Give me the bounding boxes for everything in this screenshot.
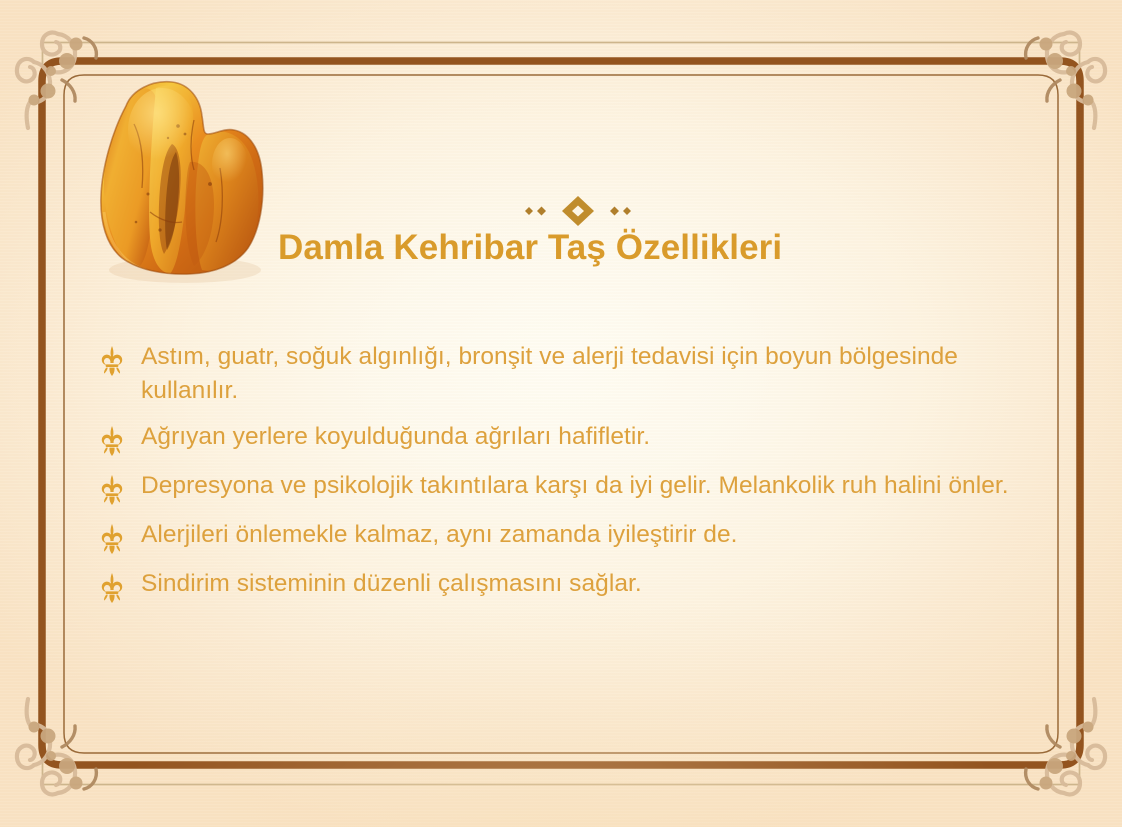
list-item: Alerjileri önlemekle kalmaz, aynı zamand… xyxy=(99,518,1039,555)
list-item-text: Sindirim sisteminin düzenli çalışmasını … xyxy=(141,567,1039,601)
list-item-text: Depresyona ve psikolojik takıntılara kar… xyxy=(141,469,1039,503)
fleur-de-lis-icon xyxy=(99,523,125,555)
page-title: Damla Kehribar Taş Özellikleri xyxy=(278,228,938,268)
amber-stone-image xyxy=(90,72,275,284)
amber-stone-illustration xyxy=(90,72,275,284)
features-list: Astım, guatr, soğuk algınlığı, bronşit v… xyxy=(99,340,1039,616)
flourish-icon xyxy=(984,8,1116,136)
ornamental-divider xyxy=(278,196,846,226)
list-item: Ağrıyan yerlere koyulduğunda ağrıları ha… xyxy=(99,420,1039,457)
fleur-de-lis-icon xyxy=(99,425,125,457)
corner-ornament-bottom-left xyxy=(6,691,138,819)
fleur-de-lis-glyph xyxy=(99,425,125,457)
list-item: Depresyona ve psikolojik takıntılara kar… xyxy=(99,469,1039,506)
list-item-text: Alerjileri önlemekle kalmaz, aynı zamand… xyxy=(141,518,1039,552)
fleur-de-lis-glyph xyxy=(99,572,125,604)
fleur-de-lis-glyph xyxy=(99,474,125,506)
corner-ornament-bottom-right xyxy=(984,691,1116,819)
corner-ornament-top-right xyxy=(984,8,1116,136)
list-item-text: Ağrıyan yerlere koyulduğunda ağrıları ha… xyxy=(141,420,1039,454)
flourish-icon xyxy=(984,691,1116,819)
divider-icon xyxy=(278,196,846,226)
fleur-de-lis-icon xyxy=(99,572,125,604)
fleur-de-lis-glyph xyxy=(99,345,125,377)
fleur-de-lis-glyph xyxy=(99,523,125,555)
list-item: Astım, guatr, soğuk algınlığı, bronşit v… xyxy=(99,340,1039,408)
fleur-de-lis-icon xyxy=(99,474,125,506)
list-item-text: Astım, guatr, soğuk algınlığı, bronşit v… xyxy=(141,340,1039,408)
poster-card: Damla Kehribar Taş Özellikleri Astım, gu… xyxy=(0,0,1122,827)
flourish-icon xyxy=(6,691,138,819)
list-item: Sindirim sisteminin düzenli çalışmasını … xyxy=(99,567,1039,604)
fleur-de-lis-icon xyxy=(99,345,125,377)
